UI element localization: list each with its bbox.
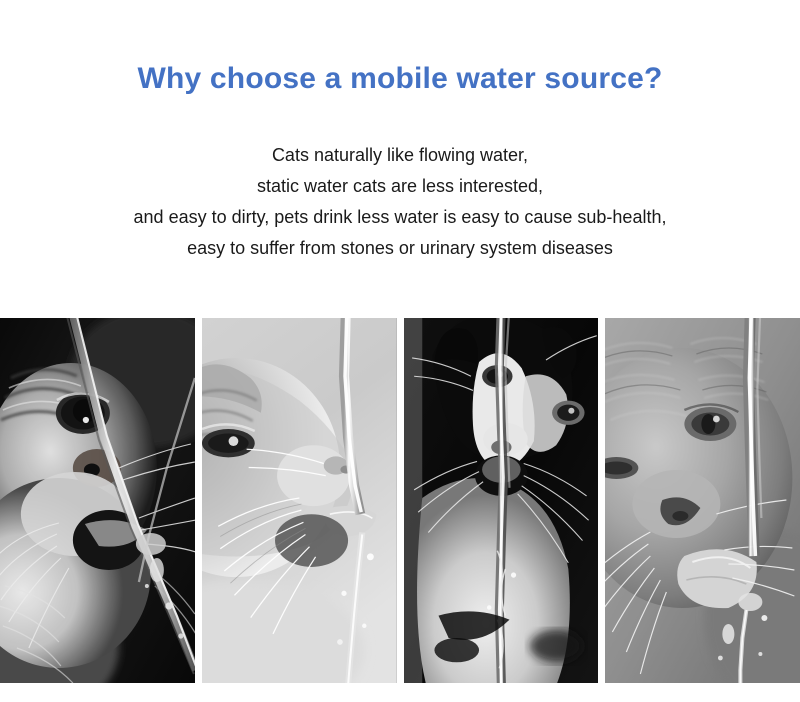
- photo-1: [0, 318, 195, 683]
- product-description-page: Why choose a mobile water source? Cats n…: [0, 0, 800, 702]
- description-line-4: easy to suffer from stones or urinary sy…: [0, 233, 800, 264]
- description-line-2: static water cats are less interested,: [0, 171, 800, 202]
- description-line-3: and easy to dirty, pets drink less water…: [0, 202, 800, 233]
- page-title: Why choose a mobile water source?: [0, 60, 800, 98]
- photo-strip: [0, 318, 800, 683]
- description-text: Cats naturally like flowing water, stati…: [0, 140, 800, 264]
- photo-3: [404, 318, 599, 683]
- photo-2: [202, 318, 397, 683]
- description-line-1: Cats naturally like flowing water,: [0, 140, 800, 171]
- photo-4: [605, 318, 800, 683]
